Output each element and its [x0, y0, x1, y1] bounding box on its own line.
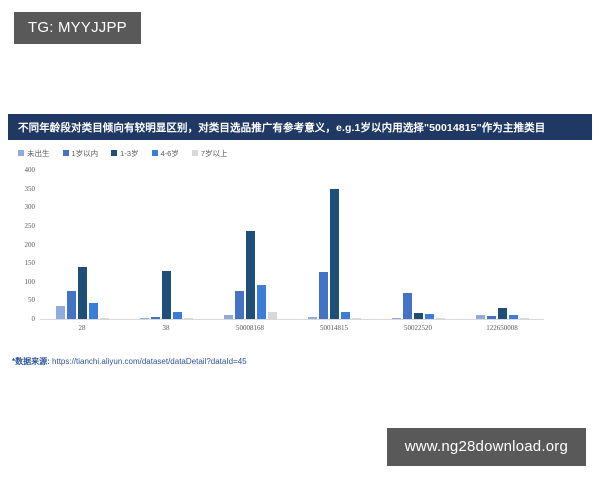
legend-swatch-icon	[18, 150, 24, 156]
x-axis-label: 122650008	[486, 324, 518, 332]
chart-legend: 未出生1岁以内1-3岁4-6岁7岁以上	[0, 146, 300, 160]
y-axis-tick: 300	[25, 203, 36, 211]
bar[interactable]	[56, 306, 65, 319]
bar[interactable]	[341, 312, 350, 319]
legend-item-1[interactable]: 1岁以内	[63, 148, 99, 159]
bar[interactable]	[403, 293, 412, 319]
legend-label: 4-6岁	[161, 148, 179, 159]
legend-item-3[interactable]: 4-6岁	[152, 148, 179, 159]
bar[interactable]	[67, 291, 76, 319]
bar[interactable]	[184, 318, 193, 319]
slide-canvas: 不同年龄段对类目倾向有较明显区别，对类目选品推广有参考意义，e.g.1岁以内用选…	[0, 108, 600, 378]
y-axis-tick: 200	[25, 241, 36, 249]
y-axis-tick: 150	[25, 259, 36, 267]
grouped-bar-chart: 2838500081685001481550022520122650008 40…	[0, 164, 560, 342]
bar-group: 50022520	[376, 170, 460, 319]
bar[interactable]	[425, 314, 434, 319]
bar[interactable]	[520, 318, 529, 319]
bar-group: 122650008	[460, 170, 544, 319]
bar[interactable]	[173, 312, 182, 319]
x-axis-label: 50014815	[320, 324, 348, 332]
bar[interactable]	[476, 315, 485, 319]
y-axis-tick: 100	[25, 278, 36, 286]
legend-swatch-icon	[63, 150, 69, 156]
y-axis-tick: 250	[25, 222, 36, 230]
bar[interactable]	[352, 318, 361, 319]
legend-swatch-icon	[111, 150, 117, 156]
y-axis-tick: 350	[25, 185, 36, 193]
source-note: *数据来源: https://tianchi.aliyun.com/datase…	[12, 356, 247, 367]
bar[interactable]	[330, 189, 339, 319]
page-title: 不同年龄段对类目倾向有较明显区别，对类目选品推广有参考意义，e.g.1岁以内用选…	[18, 120, 545, 135]
y-axis-tick: 400	[25, 166, 36, 174]
bar[interactable]	[509, 315, 518, 319]
source-label: *数据来源:	[12, 357, 50, 366]
legend-item-4[interactable]: 7岁以上	[192, 148, 228, 159]
bar[interactable]	[268, 312, 277, 319]
bar[interactable]	[498, 308, 507, 319]
bar[interactable]	[151, 317, 160, 319]
bar-group: 50014815	[292, 170, 376, 319]
legend-label: 7岁以上	[201, 148, 228, 159]
x-axis-label: 38	[163, 324, 170, 332]
bar[interactable]	[414, 313, 423, 319]
bar[interactable]	[140, 318, 149, 319]
legend-swatch-icon	[192, 150, 198, 156]
top-left-watermark: TG: MYYJJPP	[14, 12, 141, 44]
legend-label: 1岁以内	[72, 148, 99, 159]
bar[interactable]	[319, 272, 328, 319]
bar-group: 38	[124, 170, 208, 319]
bar[interactable]	[487, 316, 496, 319]
y-axis-tick: 0	[32, 315, 36, 323]
x-axis-label: 50022520	[404, 324, 432, 332]
bar[interactable]	[246, 231, 255, 319]
bar[interactable]	[392, 318, 401, 319]
bottom-right-watermark: www.ng28download.org	[387, 428, 586, 466]
bar[interactable]	[235, 291, 244, 319]
legend-item-2[interactable]: 1-3岁	[111, 148, 138, 159]
bar-group: 50008168	[208, 170, 292, 319]
x-axis-label: 28	[79, 324, 86, 332]
bar[interactable]	[436, 318, 445, 319]
bar[interactable]	[100, 318, 109, 319]
bar[interactable]	[89, 303, 98, 319]
bar-group: 28	[40, 170, 124, 319]
legend-item-0[interactable]: 未出生	[18, 148, 50, 159]
bar[interactable]	[78, 267, 87, 319]
source-url: https://tianchi.aliyun.com/dataset/dataD…	[52, 357, 247, 366]
legend-label: 1-3岁	[120, 148, 138, 159]
bar[interactable]	[162, 271, 171, 319]
x-axis-label: 50008168	[236, 324, 264, 332]
y-axis-tick: 50	[28, 296, 35, 304]
chart-plot-area: 2838500081685001481550022520122650008 40…	[40, 170, 544, 320]
slide-title-banner: 不同年龄段对类目倾向有较明显区别，对类目选品推广有参考意义，e.g.1岁以内用选…	[8, 114, 592, 140]
chart-bar-groups: 2838500081685001481550022520122650008	[40, 170, 544, 319]
bar[interactable]	[308, 317, 317, 319]
bar[interactable]	[224, 315, 233, 319]
bar[interactable]	[257, 285, 266, 319]
legend-label: 未出生	[27, 148, 50, 159]
legend-swatch-icon	[152, 150, 158, 156]
